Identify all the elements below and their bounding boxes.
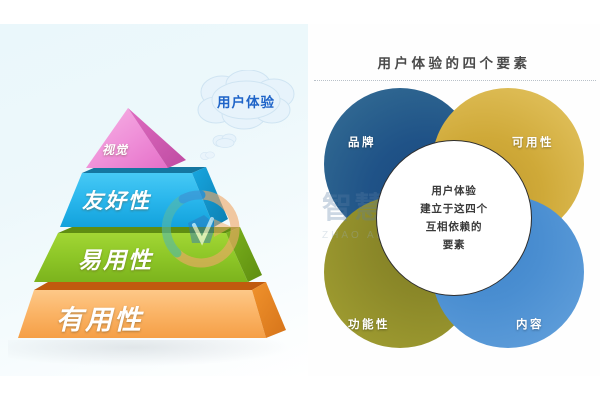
thought-puff-large-icon [212, 132, 238, 148]
pyramid-tier-4: 有用性 [4, 282, 300, 348]
center-line-1: 用户体验 [420, 182, 488, 200]
venn-label-functionality: 功能性 [348, 316, 390, 332]
center-line-2: 建立于这四个 [420, 200, 488, 218]
venn-diagram: 智慧大 ZHAO AN U 用户体验 建立于这四个 互相依赖的 要素 品牌 可用… [322, 86, 586, 352]
thought-puff-small-icon [200, 148, 216, 159]
venn-center-text: 用户体验 建立于这四个 互相依赖的 要素 [420, 182, 488, 254]
infographic-canvas: 有用性 易用性 [0, 0, 600, 400]
venn-label-brand: 品牌 [348, 134, 376, 150]
center-line-4: 要素 [420, 236, 488, 254]
title-divider [314, 80, 596, 81]
thought-bubble-text: 用户体验 [192, 70, 300, 132]
circular-brand-logo-icon [158, 189, 244, 271]
venn-label-content: 内容 [516, 316, 544, 332]
venn-title: 用户体验的四个要素 [308, 52, 600, 72]
venn-label-usability: 可用性 [512, 134, 554, 150]
venn-center-circle: 用户体验 建立于这四个 互相依赖的 要素 [376, 140, 532, 296]
center-line-3: 互相依赖的 [420, 218, 488, 236]
pyramid-tier-1: 视觉 [82, 108, 210, 172]
pyramid-panel: 有用性 易用性 [0, 24, 308, 376]
venn-panel: 用户体验的四个要素 智慧大 ZHAO AN U 用户体验 建立于这四个 互相依赖… [308, 24, 600, 376]
thought-bubble: 用户体验 [192, 70, 300, 132]
